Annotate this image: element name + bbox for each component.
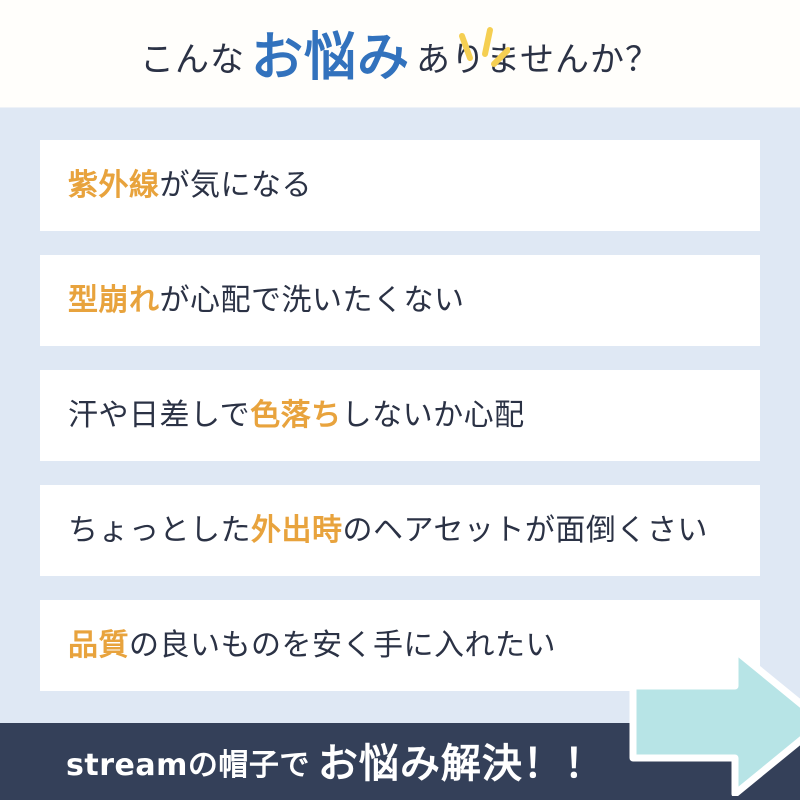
concern-pre: ちょっとした (68, 513, 251, 548)
concern-text: 型崩れが心配で洗いたくない (68, 284, 465, 317)
footer-brand-phrase: streamの帽子で (66, 751, 310, 781)
list-item: 汗や日差しで色落ちしないか心配 (40, 370, 760, 461)
headline-accent: お悩み (251, 32, 410, 84)
concern-pre: 汗や日差しで (68, 398, 250, 433)
banner-body: 紫外線が気になる 型崩れが心配で洗いたくない 汗や日差しで色落ちしないか心配 ち… (0, 108, 800, 723)
footer-call-to-action: お悩み解決！！ (318, 744, 605, 784)
concern-post: しないか心配 (342, 398, 525, 433)
list-item: 型崩れが心配で洗いたくない (40, 255, 760, 346)
concern-post: のヘアセットが面倒くさい (343, 513, 708, 548)
list-item: ちょっとした外出時のヘアセットが面倒くさい (40, 485, 760, 576)
concern-post: の良いものを安く手に入れたい (129, 628, 556, 663)
list-item: 紫外線が気になる (40, 140, 760, 231)
footer-text: streamの帽子で お悩み解決！！ (66, 742, 605, 782)
concern-post: が心配で洗いたくない (160, 283, 465, 318)
concern-highlight: 紫外線 (68, 168, 160, 203)
concern-highlight: 外出時 (251, 513, 343, 548)
concern-post: が気になる (160, 168, 313, 203)
concern-list: 紫外線が気になる 型崩れが心配で洗いたくない 汗や日差しで色落ちしないか心配 ち… (40, 140, 760, 691)
concern-text: ちょっとした外出時のヘアセットが面倒くさい (68, 514, 708, 547)
concern-highlight: 色落ち (250, 398, 342, 433)
concern-text: 紫外線が気になる (68, 169, 312, 202)
headline: こんな お悩み ありませんか？ (140, 28, 660, 80)
concern-highlight: 型崩れ (68, 283, 160, 318)
headline-prefix: こんな (140, 43, 245, 77)
concern-text: 汗や日差しで色落ちしないか心配 (68, 399, 525, 432)
concern-highlight: 品質 (68, 628, 129, 663)
headline-suffix: ありませんか？ (416, 43, 660, 77)
promo-banner: こんな お悩み ありませんか？ 紫外線が気になる 型崩れが心配で (0, 0, 800, 800)
banner-footer: streamの帽子で お悩み解決！！ (0, 723, 800, 800)
banner-header: こんな お悩み ありませんか？ (0, 0, 800, 108)
concern-text: 品質の良いものを安く手に入れたい (68, 629, 556, 662)
list-item: 品質の良いものを安く手に入れたい (40, 600, 760, 691)
